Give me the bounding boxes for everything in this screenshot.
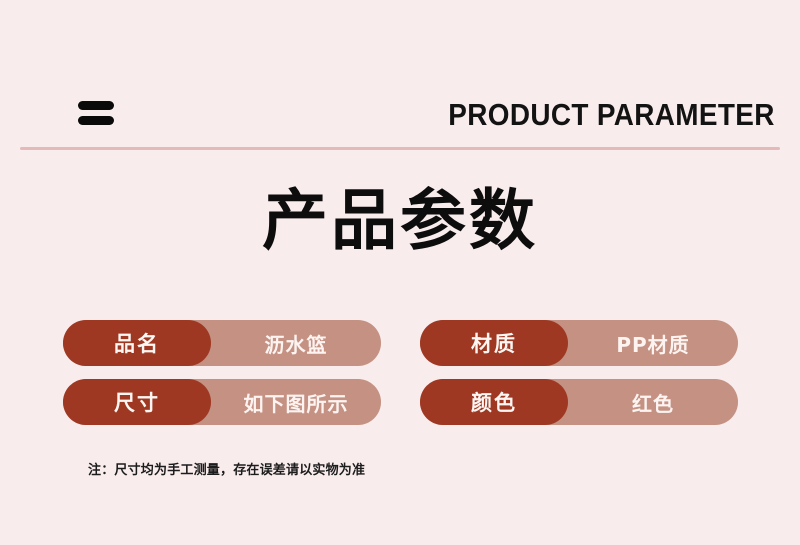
parameter-row-material: PP材质 材质 bbox=[420, 320, 738, 366]
header-title-english: PRODUCT PARAMETER bbox=[449, 97, 775, 133]
parameter-label-pill: 尺寸 bbox=[63, 379, 211, 425]
measurement-footnote: 注：尺寸均为手工测量，存在误差请以实物为准 bbox=[88, 459, 365, 478]
parameter-label-text: 品名 bbox=[114, 328, 160, 358]
parameter-value-text: 沥水篮 bbox=[211, 329, 381, 358]
parameter-value-text: 如下图所示 bbox=[211, 388, 381, 417]
parameter-label-text: 材质 bbox=[471, 328, 517, 358]
hamburger-bar-top bbox=[78, 101, 114, 110]
header-divider bbox=[20, 147, 780, 150]
parameter-label-text: 尺寸 bbox=[114, 387, 160, 417]
parameter-list: 沥水篮 品名 PP材质 材质 如下图所示 尺寸 红色 颜色 bbox=[63, 320, 738, 425]
page-title: 产品参数 bbox=[0, 182, 800, 260]
parameter-value-text: 红色 bbox=[568, 388, 738, 417]
parameter-row-product-name: 沥水篮 品名 bbox=[63, 320, 381, 366]
hamburger-bar-bottom bbox=[78, 116, 114, 125]
hamburger-icon[interactable] bbox=[78, 100, 114, 128]
parameter-row-size: 如下图所示 尺寸 bbox=[63, 379, 381, 425]
parameter-label-text: 颜色 bbox=[471, 387, 517, 417]
parameter-row-color: 红色 颜色 bbox=[420, 379, 738, 425]
parameter-label-pill: 品名 bbox=[63, 320, 211, 366]
product-parameter-page: { "page": { "background_color": "#f9eced… bbox=[0, 0, 800, 545]
parameter-label-pill: 材质 bbox=[420, 320, 568, 366]
parameter-label-pill: 颜色 bbox=[420, 379, 568, 425]
parameter-value-text: PP材质 bbox=[568, 329, 738, 358]
page-header: PRODUCT PARAMETER bbox=[0, 0, 800, 150]
